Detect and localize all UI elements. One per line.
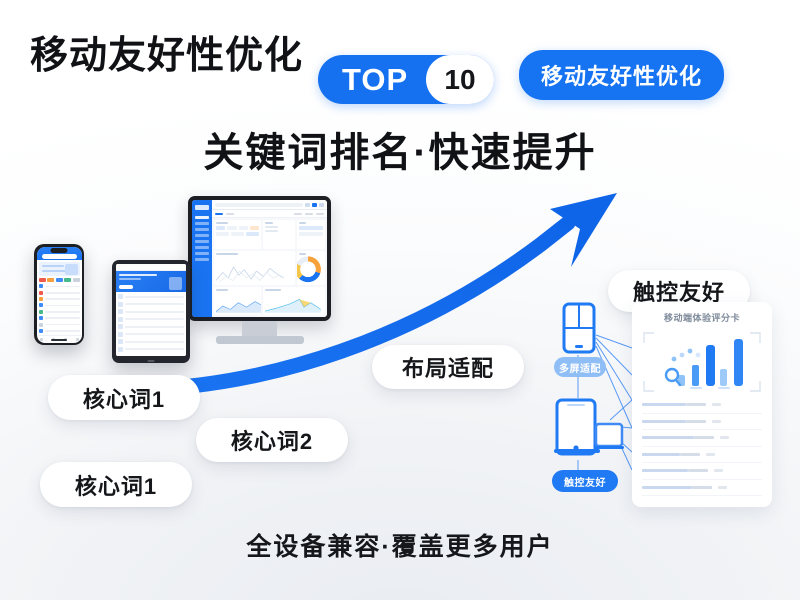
top-badge-number: 10	[426, 55, 494, 104]
dashboard-sidebar	[192, 200, 212, 317]
tablet-mockup	[112, 260, 190, 363]
phone-mockup	[34, 244, 84, 345]
keyword-pill-3[interactable]: 核心词1	[40, 462, 192, 507]
phone-home-indicator	[51, 339, 67, 341]
dashboard-card-stat	[263, 220, 295, 249]
donut-chart-icon	[297, 257, 321, 283]
dashboard-card-area1	[214, 287, 261, 315]
touch-illustration: 多屏适配 触控友好 移动端体验评分卡	[548, 300, 773, 515]
dashboard-card-side	[297, 220, 325, 249]
area-chart-icon	[216, 296, 261, 313]
scorecard-row	[642, 480, 762, 497]
phone-result-list	[37, 284, 82, 335]
tablet-home-indicator	[148, 360, 155, 362]
tablet-and-laptop-icon	[554, 398, 626, 460]
callout-layout-adapt[interactable]: 布局适配	[372, 345, 524, 389]
dashboard-card-linechart	[214, 251, 295, 285]
tablet-banner	[116, 271, 186, 292]
area-chart-icon-2	[265, 296, 321, 313]
keyword-pill-2[interactable]: 核心词2	[196, 418, 348, 462]
keyword-pill-1[interactable]: 核心词1	[48, 375, 200, 420]
scorecard-panel: 移动端体验评分卡	[632, 302, 772, 507]
dashboard-tabs	[212, 210, 327, 218]
tablet-content-list	[116, 292, 186, 356]
dashboard-card-area2	[263, 287, 325, 315]
illustration-pill-touch: 触控友好	[552, 470, 618, 492]
phone-search-bar	[42, 254, 77, 259]
scorecard-rows	[642, 397, 762, 496]
dashboard-card-filters	[214, 220, 261, 249]
top-badge-word: TOP	[342, 62, 408, 98]
monitor-base	[216, 336, 304, 344]
top-rank-badge: TOP 10	[318, 55, 494, 104]
dashboard-topbar	[212, 200, 327, 210]
poster-canvas: 移动友好性优化 TOP 10 移动友好性优化 关键词排名·快速提升	[0, 0, 800, 600]
dashboard-card-donut	[297, 251, 325, 285]
scorecard-row	[642, 430, 762, 447]
page-title: 移动友好性优化	[30, 24, 303, 79]
phone-promo-card	[39, 262, 80, 276]
desktop-monitor-mockup	[188, 196, 331, 321]
device-mockups	[28, 196, 328, 381]
scorecard-row	[642, 463, 762, 480]
small-phone-icon	[562, 302, 596, 354]
scorecard-row	[642, 397, 762, 414]
scorecard-row	[642, 414, 762, 431]
scorecard-chart	[642, 331, 762, 393]
illustration-pill-multiscreen: 多屏适配	[554, 357, 606, 377]
page-subtitle: 关键词排名·快速提升	[0, 120, 800, 178]
page-footer-text: 全设备兼容·覆盖更多用户	[0, 527, 800, 563]
line-chart-icon	[216, 263, 284, 283]
bar-chart-icon	[642, 331, 762, 393]
phone-notch	[51, 248, 68, 253]
scorecard-title: 移动端体验评分卡	[632, 311, 772, 324]
phone-icon-row	[37, 278, 82, 282]
scorecard-row	[642, 447, 762, 464]
header-tag-pill: 移动友好性优化	[519, 50, 724, 100]
